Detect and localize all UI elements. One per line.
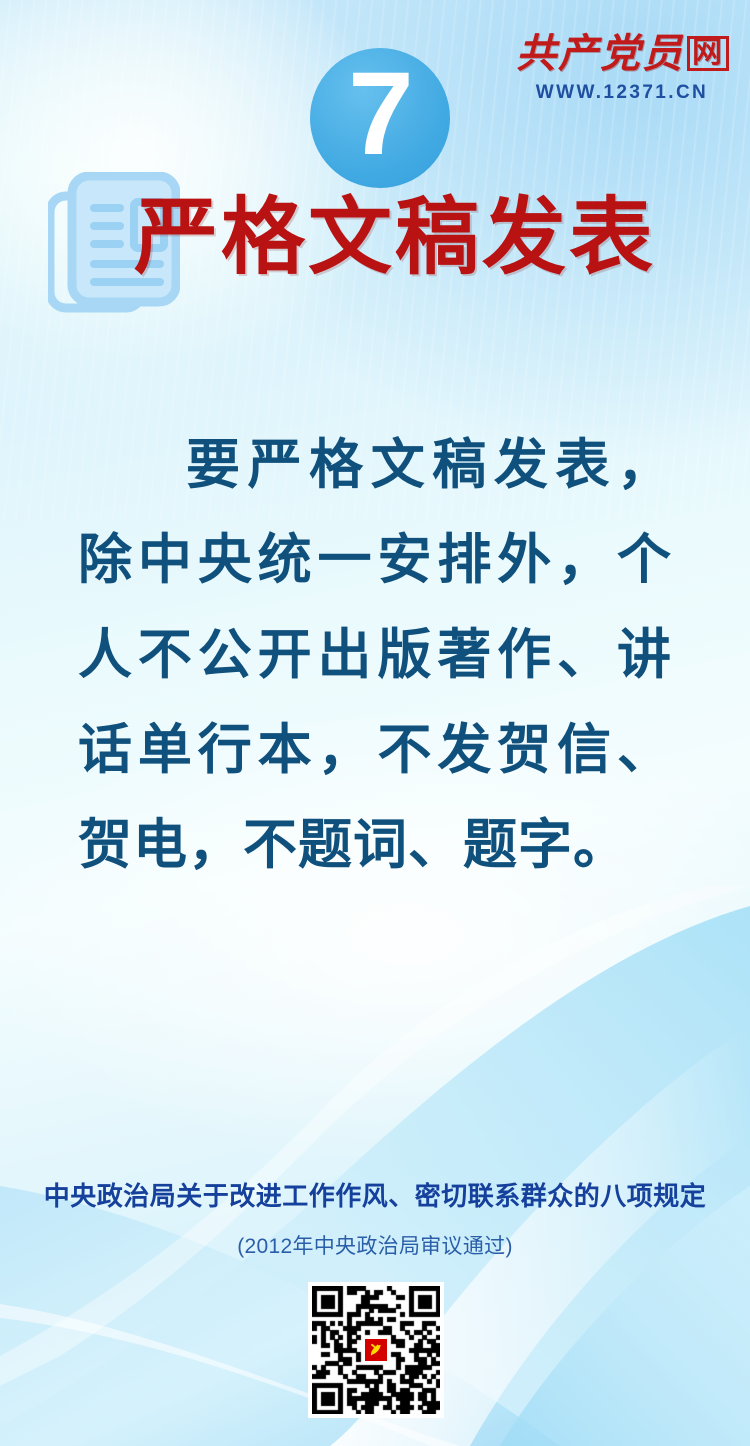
brand-logo-text: 共产党员网 — [516, 34, 728, 74]
brand-url: WWW.12371.CN — [516, 83, 728, 102]
hammer-sickle-icon — [368, 1342, 385, 1359]
brand-name: 共产党员 — [516, 31, 684, 76]
party-emblem-badge — [363, 1337, 389, 1363]
item-number-badge: 7 — [310, 48, 450, 188]
site-brand: 共产党员网 WWW.12371.CN — [516, 34, 728, 102]
item-number: 7 — [348, 55, 412, 173]
poster-canvas: 共产党员网 WWW.12371.CN 7 严格文稿发表 要严格文稿发表，除中央统… — [0, 0, 750, 1446]
body-paragraph: 要严格文稿发表，除中央统一安排外，个人不公开出版著作、讲话单行本，不发贺信、贺电… — [78, 418, 672, 893]
qr-code[interactable] — [308, 1282, 444, 1418]
page-title: 严格文稿发表 — [134, 192, 656, 283]
regulation-title: 中央政治局关于改进工作作风、密切联系群众的八项规定 — [0, 1176, 750, 1213]
regulation-note: (2012年中央政治局审议通过) — [0, 1230, 750, 1260]
brand-suffix: 网 — [687, 36, 729, 71]
